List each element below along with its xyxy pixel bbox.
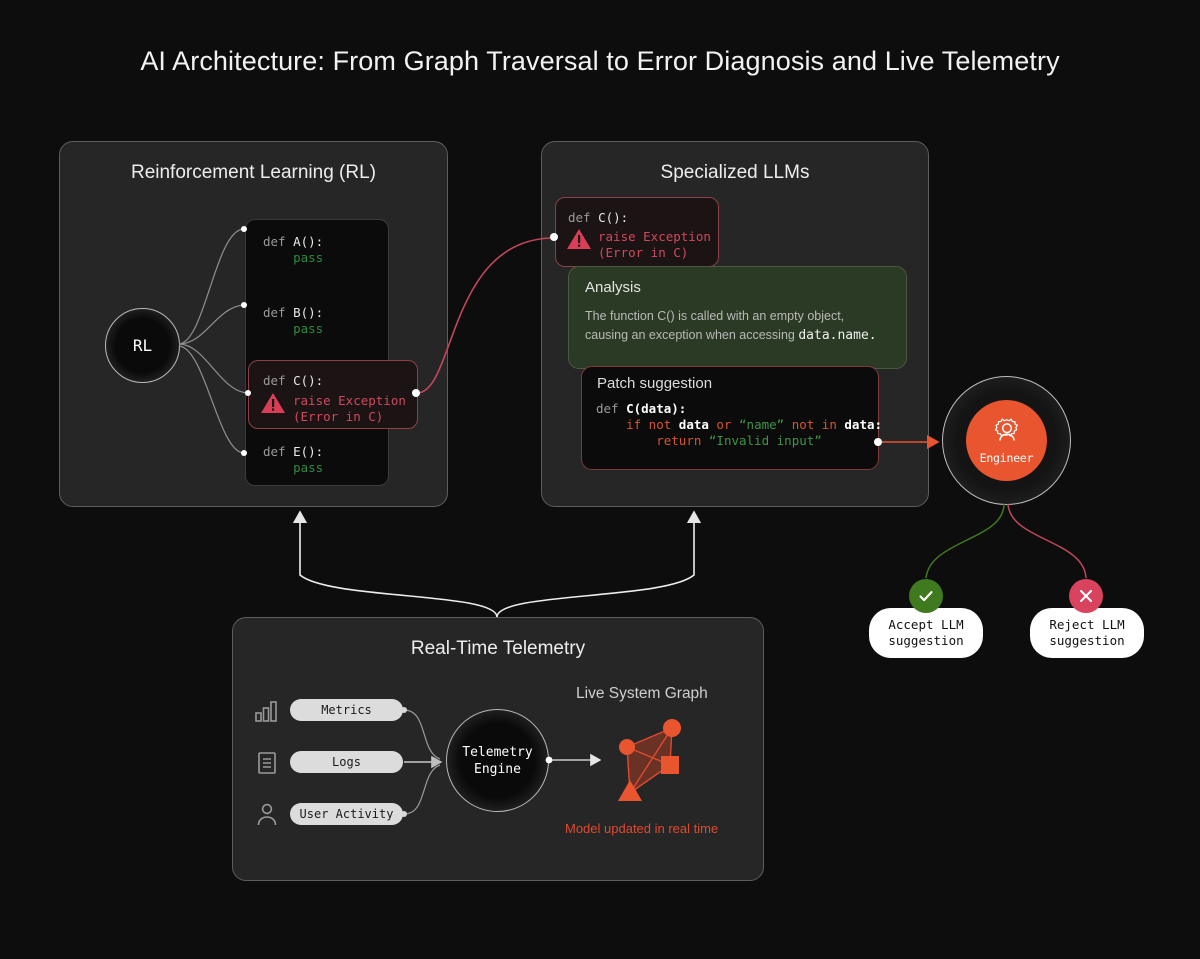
engineer-accept-connector [926, 504, 1004, 578]
telemetry-source-metrics[interactable]: Metrics [290, 699, 403, 721]
rl-fn-e-sig: E(): [293, 444, 323, 459]
patch-suggestion-card: Patch suggestion def C(data): if not dat… [581, 366, 879, 470]
analysis-line2-code: data.name. [798, 328, 876, 343]
analysis-body: The function C() is called with an empty… [585, 307, 895, 345]
llm-error-signature: C(): [598, 210, 628, 225]
page-title: AI Architecture: From Graph Traversal to… [0, 46, 1200, 77]
analysis-title: Analysis [585, 279, 641, 296]
reject-llm-suggestion-button[interactable]: Reject LLM suggestion [1030, 608, 1144, 658]
accept-line1: Accept LLM [888, 617, 963, 633]
engineer-disc: Engineer [966, 400, 1047, 481]
pill-logs-label: Logs [332, 755, 361, 769]
llm-error-line2: (Error in C) [598, 245, 688, 260]
x-icon [1069, 579, 1103, 613]
kw-def: def [568, 210, 598, 225]
panel-telemetry-title: Real-Time Telemetry [233, 638, 763, 660]
rl-error-card: def C(): raise Exception (Error in C) [248, 360, 418, 429]
patch-code-line-1: def C(data): [596, 401, 882, 417]
document-list-icon [254, 750, 280, 776]
rl-function-b: def B(): pass [263, 305, 323, 337]
rl-error-line2: (Error in C) [293, 409, 383, 424]
warning-triangle-icon [565, 225, 593, 253]
analysis-card: Analysis The function C() is called with… [568, 266, 907, 369]
telemetry-engine-node[interactable]: Telemetry Engine [446, 709, 549, 812]
rl-node-label: RL [133, 336, 152, 355]
engineer-node[interactable]: Engineer [942, 376, 1071, 505]
llm-error-card: def C(): raise Exception (Error in C) [555, 197, 719, 267]
telemetry-engine-label-2: Engine [462, 761, 532, 778]
analysis-line2-prefix: causing an exception when accessing [585, 328, 798, 342]
panel-rl-title: Reinforcement Learning (RL) [60, 162, 447, 184]
panel-llm-title: Specialized LLMs [542, 162, 928, 184]
kw-def: def [263, 444, 293, 459]
kw-def: def [263, 234, 293, 249]
pill-user-label: User Activity [300, 807, 394, 821]
rl-functions-card: def A(): pass def B(): pass def E(): pas… [245, 219, 389, 486]
patch-code-line-2: if not data or “name” not in data: [596, 417, 882, 433]
kw-def: def [263, 305, 293, 320]
live-system-graph-title: Live System Graph [576, 685, 708, 703]
engineer-gear-person-icon [987, 416, 1027, 448]
rl-fn-a-body: pass [293, 250, 323, 265]
rl-fn-b-body: pass [293, 321, 323, 336]
telemetry-engine-label-1: Telemetry [462, 744, 532, 761]
warning-triangle-icon [259, 389, 287, 417]
reject-line1: Reject LLM [1049, 617, 1124, 633]
model-updated-caption: Model updated in real time [565, 821, 718, 836]
analysis-line1: The function C() is called with an empty… [585, 309, 844, 323]
person-icon [254, 801, 280, 827]
telemetry-source-logs[interactable]: Logs [290, 751, 403, 773]
engineer-label: Engineer [980, 451, 1034, 465]
kw-def: def [263, 373, 293, 388]
rl-function-a: def A(): pass [263, 234, 323, 266]
reject-line2: suggestion [1049, 633, 1124, 649]
pill-metrics-label: Metrics [321, 703, 372, 717]
rl-fn-a-sig: A(): [293, 234, 323, 249]
rl-error-signature: C(): [293, 373, 323, 388]
rl-node[interactable]: RL [105, 308, 180, 383]
accept-llm-suggestion-button[interactable]: Accept LLM suggestion [869, 608, 983, 658]
llm-error-line1: raise Exception [598, 229, 711, 244]
rl-fn-e-body: pass [293, 460, 323, 475]
telemetry-source-user-activity[interactable]: User Activity [290, 803, 403, 825]
rl-fn-b-sig: B(): [293, 305, 323, 320]
bar-chart-icon [254, 698, 280, 724]
rl-function-e: def E(): pass [263, 444, 323, 476]
check-icon [909, 579, 943, 613]
patch-suggestion-title: Patch suggestion [597, 375, 712, 392]
patch-suggestion-code: def C(data): if not data or “name” not i… [596, 401, 882, 449]
telemetry-to-rl-arrow [300, 512, 497, 617]
accept-line2: suggestion [888, 633, 963, 649]
patch-code-line-3: return “Invalid input” [596, 433, 882, 449]
engineer-reject-connector [1008, 504, 1086, 578]
diagram-canvas: AI Architecture: From Graph Traversal to… [0, 0, 1200, 959]
telemetry-to-llm-arrow [497, 512, 694, 617]
rl-error-line1: raise Exception [293, 393, 406, 408]
